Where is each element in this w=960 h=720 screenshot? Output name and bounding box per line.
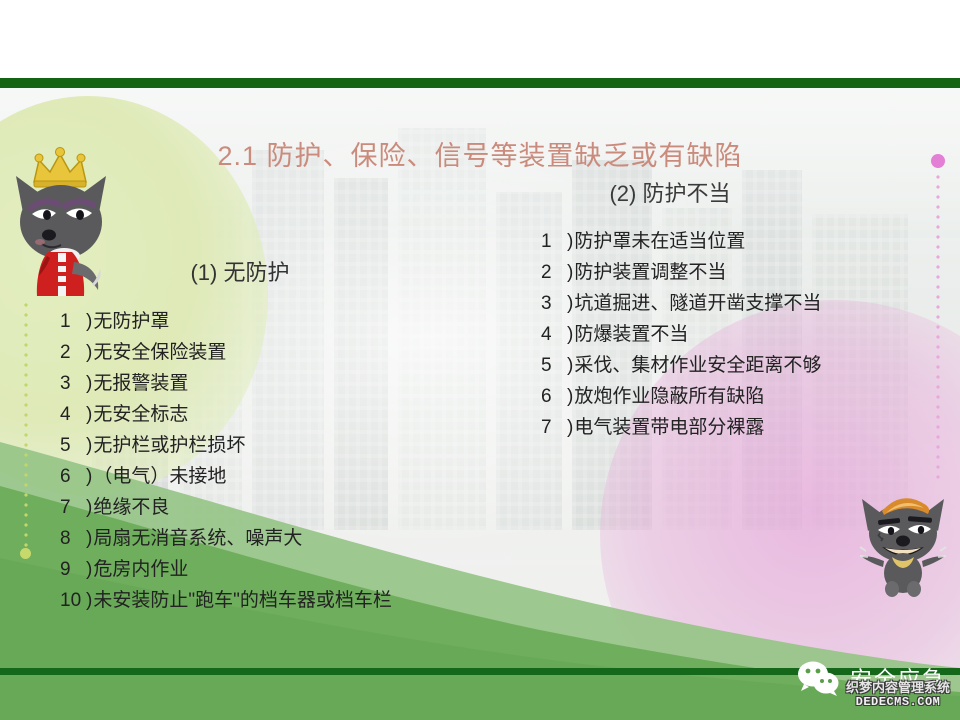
list-item: 5)无护栏或护栏损坏 bbox=[60, 430, 490, 461]
list-item: 3)坑道掘进、隧道开凿支撑不当 bbox=[541, 288, 941, 319]
list-item-number: 7 bbox=[541, 412, 567, 443]
section-heading-right: (2) 防护不当 bbox=[470, 176, 870, 208]
list-item-number: 9 bbox=[60, 554, 86, 585]
list-item-text: 绝缘不良 bbox=[93, 492, 169, 523]
wechat-icon bbox=[796, 660, 842, 696]
watermark-line-2: DEDECMS.COM bbox=[846, 695, 950, 709]
list-item-paren: ) bbox=[86, 337, 92, 368]
list-item-paren: ) bbox=[567, 288, 573, 319]
list-item-text: 电气装置带电部分裸露 bbox=[574, 412, 764, 443]
top-white-band bbox=[0, 0, 960, 78]
list-item: 6)（电气）未接地 bbox=[60, 461, 490, 492]
list-item: 7)电气装置带电部分裸露 bbox=[541, 412, 941, 443]
list-item: 5)采伐、集材作业安全距离不够 bbox=[541, 350, 941, 381]
list-item-number: 5 bbox=[60, 430, 86, 461]
list-item-paren: ) bbox=[86, 399, 92, 430]
list-item-text: 危房内作业 bbox=[93, 554, 188, 585]
list-item-paren: ) bbox=[86, 368, 92, 399]
list-item: 10)未安装防止"跑车"的档车器或档车栏 bbox=[60, 585, 490, 616]
list-item-text: 未安装防止"跑车"的档车器或档车栏 bbox=[93, 585, 392, 616]
slide-canvas: 2.1 防护、保险、信号等装置缺乏或有缺陷 (2) 防护不当 (1) 无防护 1… bbox=[0, 0, 960, 720]
list-item-number: 2 bbox=[541, 257, 567, 288]
list-item-number: 4 bbox=[541, 319, 567, 350]
list-item-paren: ) bbox=[86, 461, 92, 492]
list-item-paren: ) bbox=[86, 523, 92, 554]
left-list: 1)无防护罩 2)无安全保险装置 3)无报警装置 4)无安全标志 5)无护栏或护… bbox=[60, 306, 490, 616]
list-item-number: 3 bbox=[60, 368, 86, 399]
list-item-paren: ) bbox=[567, 350, 573, 381]
section-heading-left: (1) 无防护 bbox=[60, 255, 420, 287]
right-list: 1)防护罩未在适当位置 2)防护装置调整不当 3)坑道掘进、隧道开凿支撑不当 4… bbox=[541, 226, 941, 443]
list-item: 1)防护罩未在适当位置 bbox=[541, 226, 941, 257]
list-item-number: 3 bbox=[541, 288, 567, 319]
list-item-text: 防护罩未在适当位置 bbox=[574, 226, 745, 257]
list-item-text: 无报警装置 bbox=[93, 368, 188, 399]
list-item-paren: ) bbox=[567, 226, 573, 257]
left-dot-cap bbox=[20, 548, 31, 559]
list-item-number: 1 bbox=[541, 226, 567, 257]
top-green-rule bbox=[0, 78, 960, 88]
list-item-number: 6 bbox=[541, 381, 567, 412]
site-watermark: 织梦内容管理系统 DEDECMS.COM bbox=[846, 681, 950, 709]
list-item: 2)防护装置调整不当 bbox=[541, 257, 941, 288]
list-item-number: 5 bbox=[541, 350, 567, 381]
list-item: 4)无安全标志 bbox=[60, 399, 490, 430]
list-item-number: 8 bbox=[60, 523, 86, 554]
list-item-number: 10 bbox=[60, 585, 86, 616]
list-item-text: 无防护罩 bbox=[93, 306, 169, 337]
page-title: 2.1 防护、保险、信号等装置缺乏或有缺陷 bbox=[0, 134, 960, 173]
list-item-text: 采伐、集材作业安全距离不够 bbox=[574, 350, 821, 381]
watermark-line-1: 织梦内容管理系统 bbox=[846, 681, 950, 695]
list-item-paren: ) bbox=[567, 319, 573, 350]
list-item: 6)放炮作业隐蔽所有缺陷 bbox=[541, 381, 941, 412]
list-item-text: 无安全标志 bbox=[93, 399, 188, 430]
list-item: 2)无安全保险装置 bbox=[60, 337, 490, 368]
list-item: 3)无报警装置 bbox=[60, 368, 490, 399]
list-item-paren: ) bbox=[86, 430, 92, 461]
list-item-text: 防爆装置不当 bbox=[574, 319, 688, 350]
wolf-cap-mascot bbox=[856, 485, 952, 597]
list-item-text: （电气）未接地 bbox=[93, 461, 226, 492]
list-item-text: 无护栏或护栏损坏 bbox=[93, 430, 245, 461]
list-item-paren: ) bbox=[86, 554, 92, 585]
list-item: 1)无防护罩 bbox=[60, 306, 490, 337]
list-item: 9)危房内作业 bbox=[60, 554, 490, 585]
list-item-text: 防护装置调整不当 bbox=[574, 257, 726, 288]
list-item-number: 7 bbox=[60, 492, 86, 523]
list-item-paren: ) bbox=[567, 381, 573, 412]
list-item-text: 无安全保险装置 bbox=[93, 337, 226, 368]
list-item-paren: ) bbox=[86, 492, 92, 523]
list-item-text: 局扇无消音系统、噪声大 bbox=[93, 523, 302, 554]
list-item-number: 2 bbox=[60, 337, 86, 368]
list-item-paren: ) bbox=[86, 585, 92, 616]
list-item: 7) 绝缘不良 bbox=[60, 492, 490, 523]
list-item-text: 坑道掘进、隧道开凿支撑不当 bbox=[574, 288, 821, 319]
list-item-paren: ) bbox=[567, 257, 573, 288]
list-item-number: 1 bbox=[60, 306, 86, 337]
list-item-number: 4 bbox=[60, 399, 86, 430]
list-item-text: 放炮作业隐蔽所有缺陷 bbox=[574, 381, 764, 412]
list-item: 8)局扇无消音系统、噪声大 bbox=[60, 523, 490, 554]
list-item-number: 6 bbox=[60, 461, 86, 492]
list-item-paren: ) bbox=[86, 306, 92, 337]
left-dotted-line bbox=[24, 300, 28, 555]
list-item-paren: ) bbox=[567, 412, 573, 443]
list-item: 4)防爆装置不当 bbox=[541, 319, 941, 350]
